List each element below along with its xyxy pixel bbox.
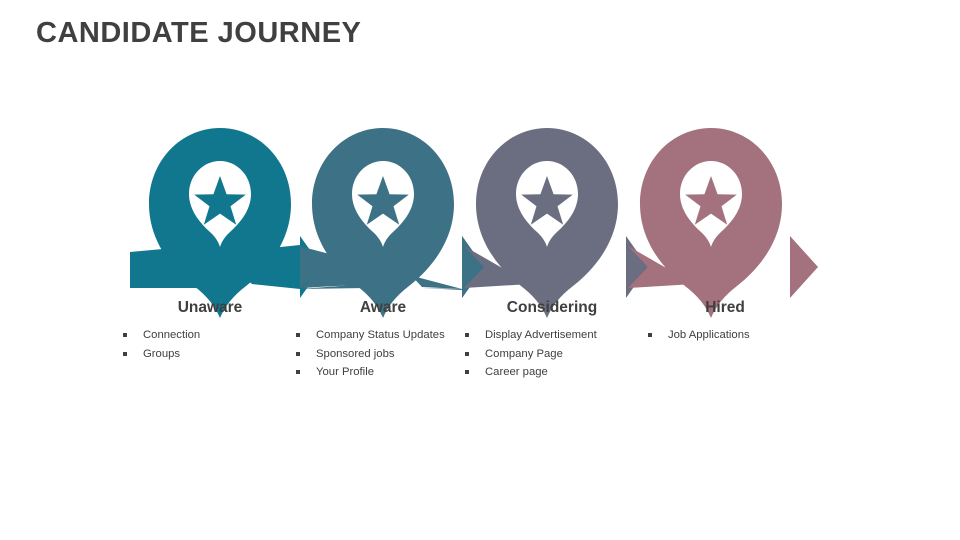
stage-title-unaware: Unaware xyxy=(115,298,305,318)
list-item: Job Applications xyxy=(630,326,820,345)
candidate-journey-diagram xyxy=(0,0,960,540)
list-item-label: Display Advertisement xyxy=(485,329,597,341)
list-item: Connection xyxy=(115,326,305,345)
stage-bullet-list-considering: Display Advertisement Company Page Caree… xyxy=(457,326,647,382)
stage-caption-hired: Hired Job Applications xyxy=(630,298,820,345)
page-title: CANDIDATE JOURNEY xyxy=(36,17,361,50)
stage-title-aware: Aware xyxy=(288,298,478,318)
bullet-square-icon xyxy=(296,370,300,374)
balloon-outline-unaware[interactable] xyxy=(149,128,291,318)
list-item: Groups xyxy=(115,345,305,364)
list-item: Sponsored jobs xyxy=(288,345,478,364)
stage-captions: Unaware Connection Groups Aware Company … xyxy=(0,298,960,428)
list-item-label: Company Status Updates xyxy=(316,329,445,341)
bullet-square-icon xyxy=(648,333,652,337)
list-item: Career page xyxy=(457,363,647,382)
balloon-outline-considering[interactable] xyxy=(476,128,618,318)
stage-icon-considering[interactable] xyxy=(476,128,618,318)
bullet-square-icon xyxy=(296,352,300,356)
balloon-outline-aware[interactable] xyxy=(312,128,454,318)
slide-canvas: CANDIDATE JOURNEY xyxy=(0,0,960,540)
bullet-square-icon xyxy=(465,352,469,356)
list-item: Company Status Updates xyxy=(288,326,478,345)
list-item-label: Company Page xyxy=(485,348,563,360)
list-item-label: Sponsored jobs xyxy=(316,348,395,360)
list-item-label: Groups xyxy=(143,348,180,360)
stage-caption-unaware: Unaware Connection Groups xyxy=(115,298,305,363)
stage-bullet-list-hired: Job Applications xyxy=(630,326,820,345)
bullet-square-icon xyxy=(123,333,127,337)
stage-title-hired: Hired xyxy=(630,298,820,318)
list-item-label: Career page xyxy=(485,366,548,378)
list-item-label: Connection xyxy=(143,329,200,341)
list-item: Company Page xyxy=(457,345,647,364)
stage-title-considering: Considering xyxy=(457,298,647,318)
bullet-square-icon xyxy=(465,333,469,337)
stage-caption-considering: Considering Display Advertisement Compan… xyxy=(457,298,647,382)
list-item-label: Job Applications xyxy=(668,329,750,341)
list-item-label: Your Profile xyxy=(316,366,374,378)
bullet-square-icon xyxy=(123,352,127,356)
stage-icon-aware[interactable] xyxy=(312,128,454,318)
bullet-square-icon xyxy=(296,333,300,337)
stage-icon-hired[interactable] xyxy=(640,128,782,318)
bullet-square-icon xyxy=(465,370,469,374)
stage-bullet-list-unaware: Connection Groups xyxy=(115,326,305,363)
stage-bullet-list-aware: Company Status Updates Sponsored jobs Yo… xyxy=(288,326,478,382)
list-item: Your Profile xyxy=(288,363,478,382)
stage-caption-aware: Aware Company Status Updates Sponsored j… xyxy=(288,298,478,382)
balloon-outline-hired[interactable] xyxy=(640,128,782,318)
stage-icon-unaware[interactable] xyxy=(149,128,291,318)
list-item: Display Advertisement xyxy=(457,326,647,345)
